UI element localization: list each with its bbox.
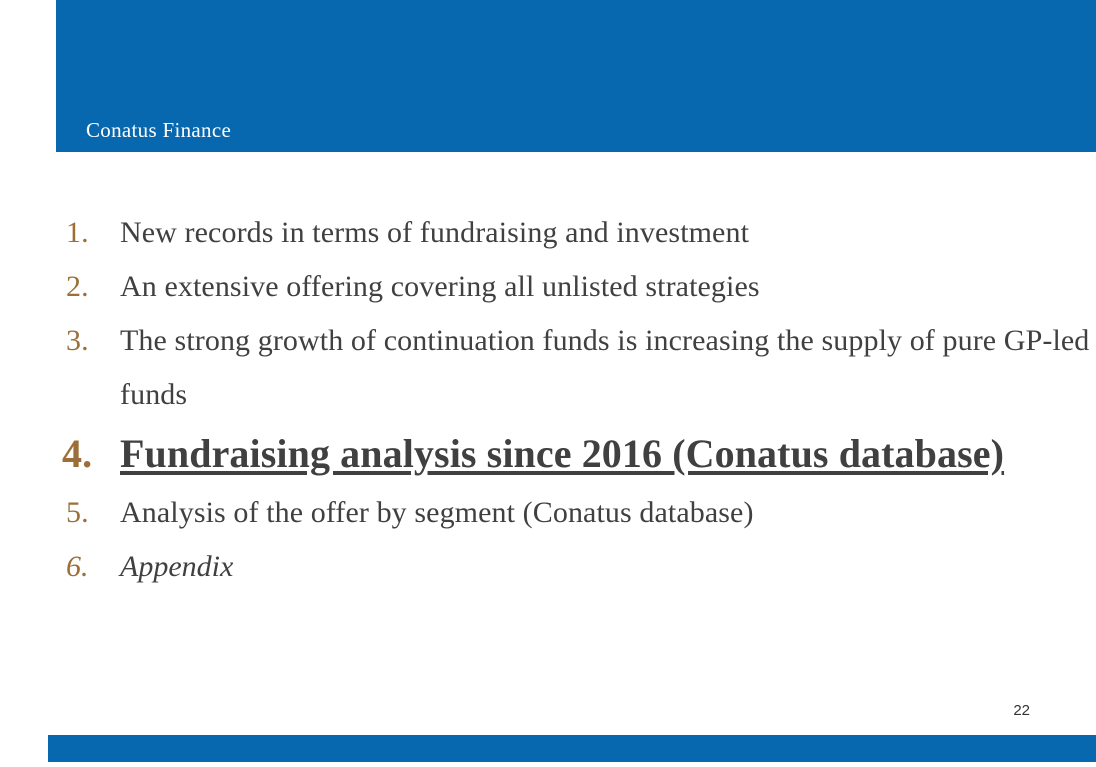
agenda-item-6-label: Appendix	[120, 540, 1096, 594]
header-title: Conatus Finance	[86, 120, 231, 141]
agenda-item-1[interactable]: 1. New records in terms of fundraising a…	[0, 206, 1096, 260]
slide: Conatus Finance 1. New records in terms …	[0, 0, 1096, 767]
agenda-item-5-number: 5.	[66, 486, 112, 540]
agenda-item-5[interactable]: 5. Analysis of the offer by segment (Con…	[0, 486, 1096, 540]
agenda-item-4-label: Fundraising analysis since 2016 (Conatus…	[120, 422, 1096, 486]
agenda-item-6-number: 6.	[66, 540, 112, 594]
agenda-item-2-number: 2.	[66, 260, 112, 314]
agenda-item-5-label: Analysis of the offer by segment (Conatu…	[120, 486, 1096, 540]
agenda-list: 1. New records in terms of fundraising a…	[0, 206, 1096, 594]
footer-band	[48, 735, 1096, 762]
page-number: 22	[1013, 702, 1030, 719]
agenda-item-2-label: An extensive offering covering all unlis…	[120, 260, 1096, 314]
agenda-item-2[interactable]: 2. An extensive offering covering all un…	[0, 260, 1096, 314]
agenda-item-1-label: New records in terms of fundraising and …	[120, 206, 1096, 260]
agenda-item-6[interactable]: 6. Appendix	[0, 540, 1096, 594]
agenda-item-3-number: 3.	[66, 314, 112, 368]
agenda-item-1-number: 1.	[66, 206, 112, 260]
agenda-item-3[interactable]: 3. The strong growth of continuation fun…	[0, 314, 1096, 422]
agenda-item-3-label: The strong growth of continuation funds …	[120, 314, 1096, 422]
agenda-item-4-number: 4.	[62, 422, 108, 486]
agenda-item-4[interactable]: 4. Fundraising analysis since 2016 (Cona…	[0, 422, 1096, 486]
